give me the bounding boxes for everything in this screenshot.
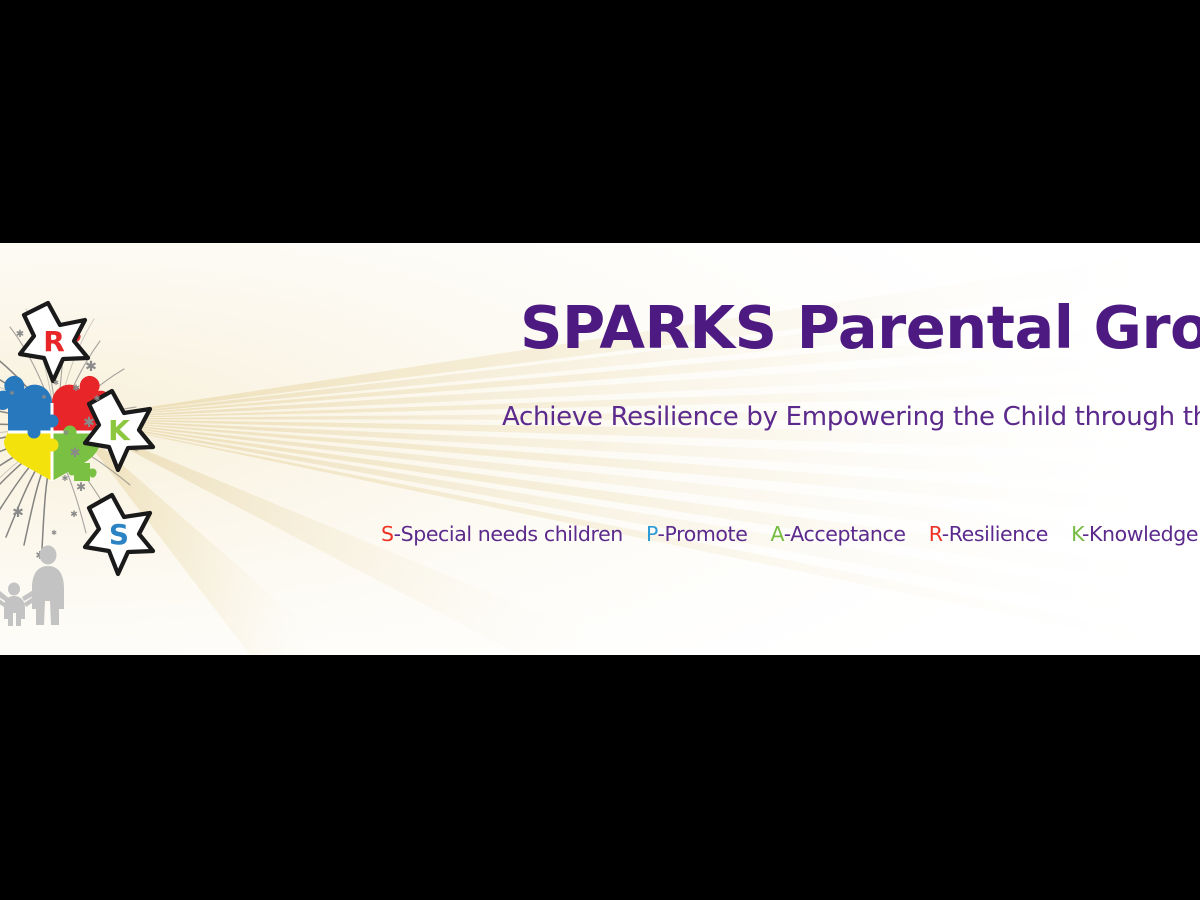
acronym-rest-s1: -Special needs children: [394, 522, 623, 546]
sparks-banner: R K S ✱ ✱ ✱ ✱: [0, 243, 1200, 655]
svg-text:✱: ✱: [9, 390, 14, 397]
acronym-initial-p: P: [646, 522, 658, 546]
acronym-rest-p: -Promote: [658, 522, 748, 546]
star-s: S: [85, 495, 153, 574]
acronym-rest-k: -Knowledge: [1082, 522, 1198, 546]
star-r: R: [20, 303, 88, 381]
banner-title: SPARKS Parental Gro: [520, 298, 1200, 357]
svg-text:✱: ✱: [94, 394, 101, 403]
svg-text:✱: ✱: [51, 529, 57, 537]
acronym-item-p-promote: P-Promote: [646, 522, 747, 546]
svg-text:✱: ✱: [53, 379, 59, 387]
svg-text:✱: ✱: [16, 329, 24, 340]
svg-text:✱: ✱: [63, 429, 69, 437]
svg-text:R: R: [43, 325, 65, 358]
acronym-initial-s1: S: [381, 522, 394, 546]
svg-text:✱: ✱: [83, 415, 95, 431]
svg-text:✱: ✱: [72, 384, 80, 394]
screenshot-canvas: R K S ✱ ✱ ✱ ✱: [0, 0, 1200, 900]
sparks-logo: R K S ✱ ✱ ✱ ✱: [0, 269, 178, 629]
svg-text:S: S: [109, 518, 129, 551]
svg-text:✱: ✱: [12, 505, 24, 521]
acronym-rest-a: -Acceptance: [784, 522, 906, 546]
acronym-item-s-special: S-Special needs children: [381, 522, 623, 546]
letterbox-top: [0, 0, 1200, 243]
acronym-item-r-resilience: R-Resilience: [929, 522, 1048, 546]
svg-text:✱: ✱: [70, 510, 78, 520]
letterbox-bottom: [0, 655, 1200, 900]
family-silhouette: [0, 546, 64, 627]
banner-text-block: SPARKS Parental Gro Achieve Resilience b…: [520, 243, 1200, 655]
svg-text:K: K: [108, 414, 131, 447]
acronym-item-a-acceptance: A-Acceptance: [771, 522, 906, 546]
svg-text:✱: ✱: [62, 474, 69, 483]
banner-subtitle: Achieve Resilience by Empowering the Chi…: [502, 404, 1200, 430]
acronym-initial-k: K: [1071, 522, 1082, 546]
sparks-acronym-line: S-Special needs children P-Promote A-Acc…: [381, 524, 1200, 545]
acronym-initial-a: A: [771, 522, 784, 546]
svg-text:✱: ✱: [76, 480, 86, 494]
svg-text:✱: ✱: [41, 394, 46, 401]
acronym-initial-r: R: [929, 522, 942, 546]
acronym-rest-r: -Resilience: [942, 522, 1048, 546]
svg-text:✱: ✱: [70, 446, 81, 461]
acronym-item-k-knowledge: K-Knowledge: [1071, 522, 1198, 546]
svg-text:✱: ✱: [85, 359, 97, 375]
